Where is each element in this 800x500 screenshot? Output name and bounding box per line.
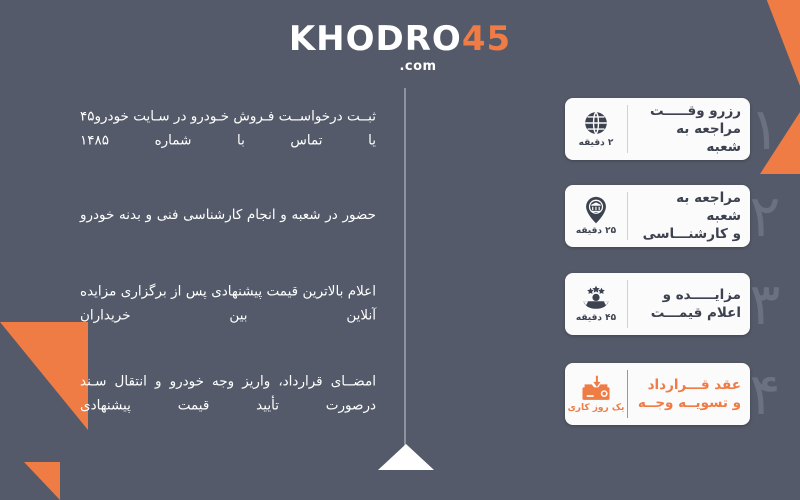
step-card[interactable]: ۲ دقیقه رزرو وقـــــت مراجعه به شعبه bbox=[565, 98, 750, 160]
step-title-line2: و تسویــه وجــه bbox=[638, 395, 741, 411]
auction-award-icon bbox=[581, 285, 611, 311]
step-title-line1: عقد قـــرارداد bbox=[648, 377, 741, 393]
step-duration: ۲۵ دقیقه bbox=[576, 226, 616, 236]
step-title-line1: مزایـــــده و bbox=[663, 287, 741, 303]
card-divider bbox=[627, 105, 628, 153]
step-title-line1: مراجعه به شعبه bbox=[676, 190, 741, 224]
step-item: ۳ ۴۵ دقیقه مزایـــــده و bbox=[0, 268, 800, 340]
step-card[interactable]: یک روز کاری عقد قـــرارداد و تسویــه وجـ… bbox=[565, 363, 750, 425]
step-title: رزرو وقـــــت مراجعه به شعبه bbox=[628, 98, 750, 160]
wallet-payment-icon bbox=[582, 375, 610, 401]
step-title: مراجعه به شعبه و کارشنـــاسی bbox=[628, 185, 750, 247]
card-divider bbox=[627, 370, 628, 418]
step-numeral: ۱ bbox=[744, 100, 786, 158]
map-pin-bank-icon bbox=[583, 196, 609, 224]
brand-logo: KHODRO45 .com bbox=[0, 22, 800, 73]
step-duration: یک روز کاری bbox=[568, 403, 625, 413]
step-item: ۱ ۲ دقیقه رزرو وقـــــت مراجعه به شعبه bbox=[0, 90, 800, 168]
step-duration: ۴۵ دقیقه bbox=[576, 313, 616, 323]
step-numeral: ۲ bbox=[744, 187, 786, 245]
decorative-triangle-bottom-left-small bbox=[24, 462, 60, 500]
brand-wordmark: KHODRO45 .com bbox=[0, 22, 800, 73]
brand-number-text: 45 bbox=[462, 19, 511, 59]
step-icon-area: یک روز کاری bbox=[565, 363, 627, 425]
steps-list: ۱ ۲ دقیقه رزرو وقـــــت مراجعه به شعبه bbox=[0, 90, 800, 432]
step-description: حضور در شعبه و انجام کارشناسی فنی و بدنه… bbox=[0, 204, 400, 228]
step-icon-area: ۲ دقیقه bbox=[565, 98, 627, 160]
step-title: مزایـــــده و اعلام قیمـــت bbox=[628, 273, 750, 335]
step-title-line2: مراجعه به شعبه bbox=[676, 121, 741, 155]
step-description: ثبــت درخواســت فـروش خـودرو در سـایت خو… bbox=[0, 105, 400, 152]
step-icon-area: ۴۵ دقیقه bbox=[565, 273, 627, 335]
globe-icon bbox=[583, 110, 609, 136]
step-numeral: ۴ bbox=[744, 365, 786, 423]
step-card[interactable]: ۲۵ دقیقه مراجعه به شعبه و کارشنـــاسی bbox=[565, 185, 750, 247]
step-title-line1: رزرو وقـــــت bbox=[650, 103, 741, 119]
step-description: امضــای قرارداد، واریز وجه خودرو و انتقا… bbox=[0, 370, 400, 417]
step-icon-area: ۲۵ دقیقه bbox=[565, 185, 627, 247]
step-title-line2: و کارشنـــاسی bbox=[643, 226, 741, 242]
step-item: ۲ ۲۵ دقیقه مراجعه به شعبه و کارشنـــاس bbox=[0, 180, 800, 252]
step-title-line2: اعلام قیمـــت bbox=[651, 305, 741, 321]
step-duration: ۲ دقیقه bbox=[579, 138, 614, 148]
step-card[interactable]: ۴۵ دقیقه مزایـــــده و اعلام قیمـــت bbox=[565, 273, 750, 335]
card-divider bbox=[627, 192, 628, 240]
card-divider bbox=[627, 280, 628, 328]
infographic-canvas: KHODRO45 .com ۱ ۲ دقیقه رزرو وقـــ bbox=[0, 0, 800, 500]
timeline-arrow-icon bbox=[378, 444, 434, 470]
brand-name-text: KHODRO bbox=[289, 19, 462, 59]
step-item: ۴ یک روز کاری عقد قـــرا bbox=[0, 356, 800, 432]
step-title: عقد قـــرارداد و تسویــه وجــه bbox=[628, 363, 750, 425]
brand-tld-text: .com bbox=[36, 60, 800, 73]
step-numeral: ۳ bbox=[744, 275, 786, 333]
step-description: اعلام بالاترین قیمت پیشنهادی پس از برگزا… bbox=[0, 280, 400, 327]
